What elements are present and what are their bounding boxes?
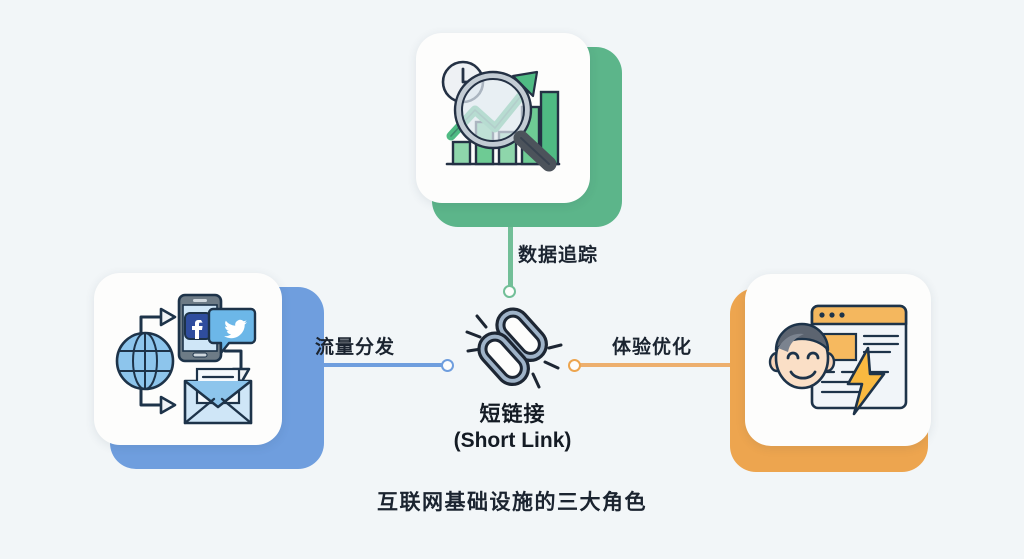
card-face-experience [745,274,931,446]
infographic-canvas: 数据追踪 流量分发 体验优化 [0,0,1024,559]
connector-line-experience [572,363,732,367]
edge-label-traffic: 流量分发 [315,332,395,359]
data-analytics-icon [433,52,573,184]
node-card-traffic[interactable] [86,265,316,470]
hub-icon-wrapper [440,300,585,396]
card-face-analytics [416,33,590,203]
hub-short-link[interactable]: 短链接 (Short Link) [440,300,585,453]
chain-link-icon [461,302,565,394]
card-face-traffic [94,273,282,445]
edge-label-analytics: 数据追踪 [518,240,598,267]
hub-title-cn: 短链接 [440,398,585,428]
node-card-analytics[interactable] [408,25,628,225]
hub-title-en: (Short Link) [440,429,585,453]
node-card-experience[interactable] [722,266,938,471]
traffic-distribution-icon [113,291,263,427]
edge-label-experience: 体验优化 [612,332,692,359]
connector-endpoint-analytics [503,285,516,298]
diagram-caption: 互联网基础设施的三大角色 [0,486,1024,516]
user-experience-icon [764,300,912,420]
